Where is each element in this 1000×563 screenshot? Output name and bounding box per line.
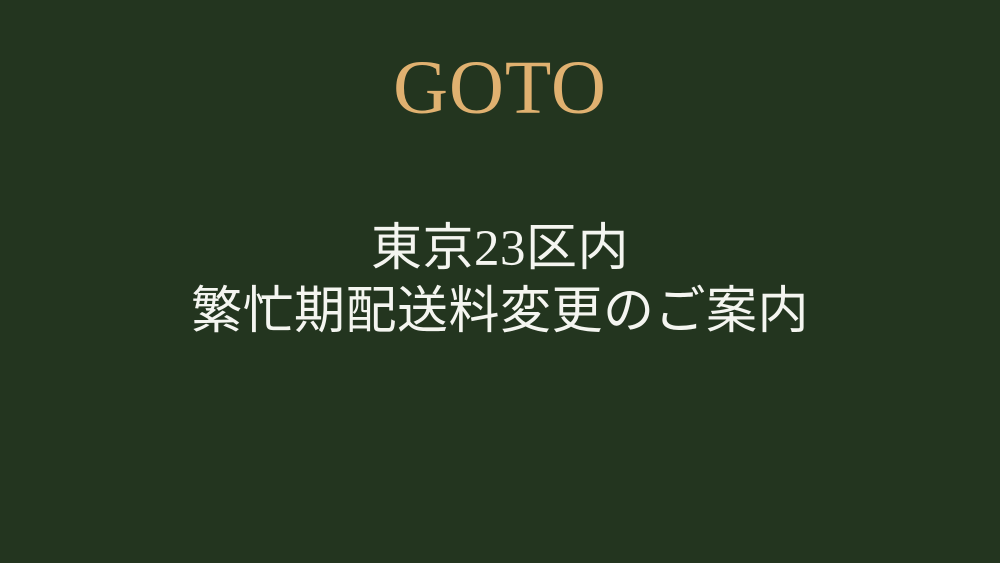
headline-block: 東京23区内 繁忙期配送料変更のご案内 bbox=[0, 218, 1000, 344]
brand-logo: GOTO bbox=[0, 50, 1000, 126]
headline-line-2: 繁忙期配送料変更のご案内 bbox=[0, 281, 1000, 344]
headline-line-1: 東京23区内 bbox=[0, 218, 1000, 281]
announcement-banner: GOTO 東京23区内 繁忙期配送料変更のご案内 bbox=[0, 0, 1000, 563]
